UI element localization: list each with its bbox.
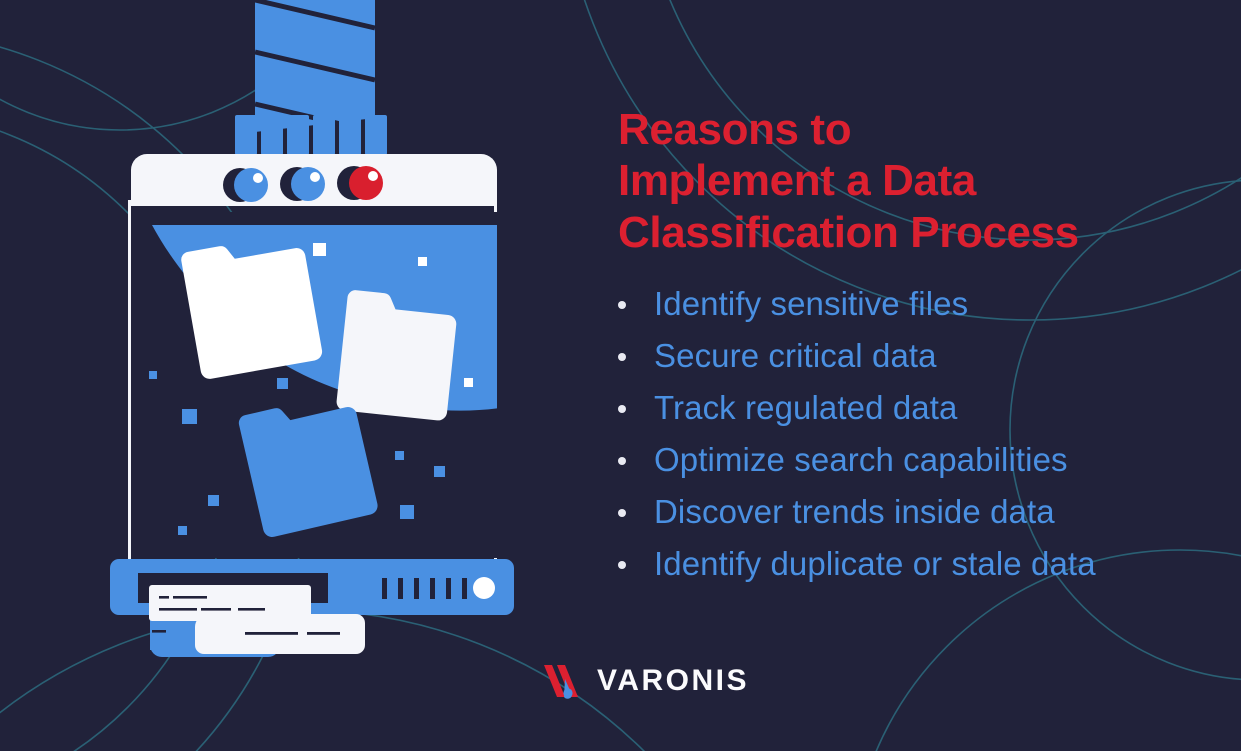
list-item-label: Discover trends inside data <box>654 494 1055 531</box>
title-line-3: Classification Process <box>618 207 1218 258</box>
list-item-label: Optimize search capabilities <box>654 442 1068 479</box>
list-item-label: Track regulated data <box>654 390 957 427</box>
page-title: Reasons to Implement a Data Classificati… <box>618 104 1218 258</box>
indicator-light-1 <box>223 168 268 202</box>
reasons-list: Identify sensitive files Secure critical… <box>618 286 1218 584</box>
bullet-dot-icon <box>618 561 626 569</box>
varonis-wordmark: VARONIS <box>597 664 749 698</box>
bullet-dot-icon <box>618 457 626 465</box>
bullet-dot-icon <box>618 301 626 309</box>
title-line-2: Implement a Data <box>618 155 1218 206</box>
list-item-label: Identify duplicate or stale data <box>654 546 1096 583</box>
indicator-light-2 <box>280 167 325 201</box>
vacuum-hose <box>255 0 375 132</box>
varonis-logo: VARONIS <box>541 663 749 699</box>
list-item: Identify duplicate or stale data <box>618 546 1218 584</box>
list-item: Discover trends inside data <box>618 494 1218 532</box>
bullet-dot-icon <box>618 353 626 361</box>
list-item: Optimize search capabilities <box>618 442 1218 480</box>
list-item: Identify sensitive files <box>618 286 1218 324</box>
bullet-dot-icon <box>618 509 626 517</box>
vacuum-illustration <box>0 0 560 720</box>
content-column: Reasons to Implement a Data Classificati… <box>618 104 1218 598</box>
base-power-button <box>473 577 495 599</box>
indicator-light-3 <box>337 166 383 200</box>
bullet-dot-icon <box>618 405 626 413</box>
list-item: Secure critical data <box>618 338 1218 376</box>
list-item-label: Secure critical data <box>654 338 937 375</box>
varonis-mark-icon <box>541 663 587 699</box>
list-item: Track regulated data <box>618 390 1218 428</box>
title-line-1: Reasons to <box>618 104 1218 155</box>
indicator-lights <box>223 166 383 202</box>
poster-canvas: Reasons to Implement a Data Classificati… <box>0 0 1241 751</box>
list-item-label: Identify sensitive files <box>654 286 968 323</box>
